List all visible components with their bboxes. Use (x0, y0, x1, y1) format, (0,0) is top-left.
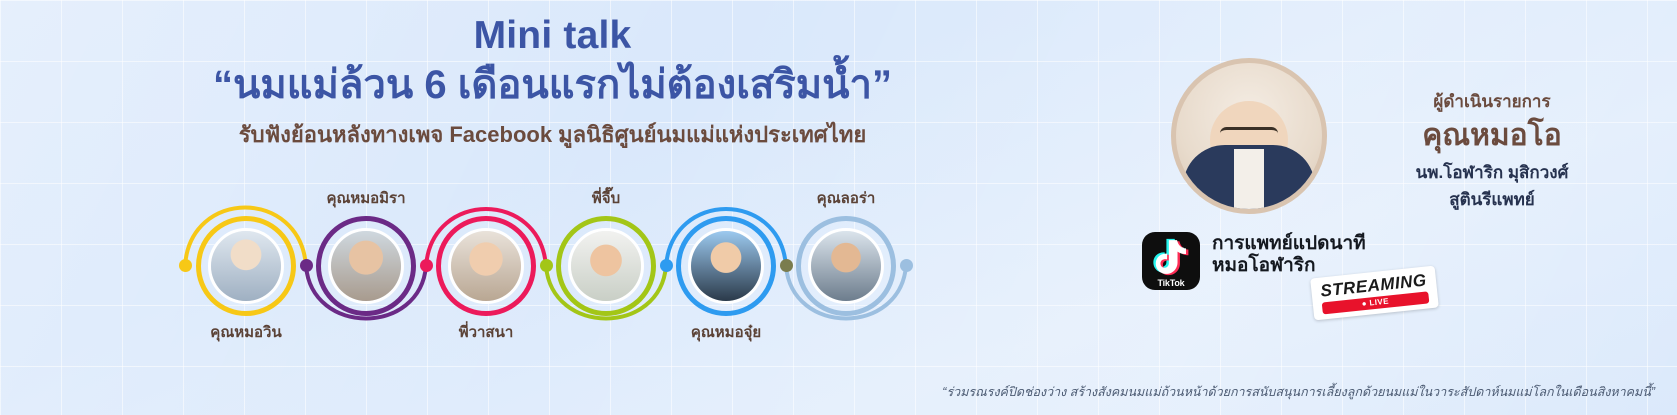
headline-quote: “นมแม่ล้วน 6 เดือนแรกไม่ต้องเสริมน้ำ” (0, 61, 1105, 110)
headline-subtitle: รับฟังย้อนหลังทางเพจ Facebook มูลนิธิศูน… (0, 122, 1105, 148)
host-fullname: นพ.โอฬาริก มุสิกวงศ์ (1342, 159, 1642, 186)
speaker-avatar (688, 228, 764, 304)
promo-banner: Mini talk “นมแม่ล้วน 6 เดือนแรกไม่ต้องเส… (0, 0, 1677, 415)
speaker-ring (556, 216, 656, 316)
speaker-ring (196, 216, 296, 316)
speaker-avatar (208, 228, 284, 304)
headline-block: Mini talk “นมแม่ล้วน 6 เดือนแรกไม่ต้องเส… (0, 14, 1105, 148)
speaker-ring (796, 216, 896, 316)
speaker-avatar (328, 228, 404, 304)
speaker-name: คุณหมอวิน (164, 320, 328, 344)
connector-dot (540, 259, 553, 272)
host-specialty: สูตินรีแพทย์ (1342, 186, 1642, 213)
host-info: ผู้ดำเนินรายการ คุณหมอโอ นพ.โอฬาริก มุสิ… (1342, 88, 1642, 213)
avatar-photo (691, 231, 761, 301)
speaker-node[interactable]: คุณลอร่า (786, 178, 906, 338)
channel-line-1: การแพทย์แปดนาที (1212, 233, 1366, 255)
avatar-photo (331, 231, 401, 301)
speaker-avatar (448, 228, 524, 304)
speaker-node[interactable]: คุณหมอมิรา (306, 178, 426, 338)
connector-dot (900, 259, 913, 272)
channel-name: การแพทย์แปดนาที หมอโอฬาริก (1212, 233, 1366, 278)
speaker-avatar (568, 228, 644, 304)
speaker-name: คุณลอร่า (764, 186, 928, 210)
speaker-name: พี่วาสนา (404, 320, 568, 344)
footer-note: “ร่วมรณรงค์ปิดช่องว่าง สร้างสังคมนมแม่ถ้… (0, 382, 1655, 402)
avatar-photo (211, 231, 281, 301)
speaker-name: พี่จี๊บ (524, 186, 688, 210)
page-title: Mini talk (0, 14, 1105, 59)
avatar-photo (451, 231, 521, 301)
connector-dot (660, 259, 673, 272)
speaker-ring (316, 216, 416, 316)
speaker-name: คุณหมอจุ๋ย (644, 320, 808, 344)
speaker-avatar (808, 228, 884, 304)
host-role: ผู้ดำเนินรายการ (1342, 88, 1642, 115)
tiktok-icon[interactable]: TikTok (1142, 232, 1200, 290)
speakers-section: วิทยากร คุณหมอวิน (0, 178, 1060, 338)
host-nickname: คุณหมอโอ (1342, 117, 1642, 155)
speaker-ring (676, 216, 776, 316)
tiktok-wordmark: TikTok (1142, 278, 1200, 288)
speaker-ring (436, 216, 536, 316)
speaker-name: คุณหมอมิรา (284, 186, 448, 210)
avatar-photo (811, 231, 881, 301)
connector-dot (300, 259, 313, 272)
host-avatar (1171, 58, 1327, 214)
connector-dot (420, 259, 433, 272)
connector-dot (179, 259, 192, 272)
connector-dot (780, 259, 793, 272)
channel-section: TikTok การแพทย์แปดนาที หมอโอฬาริก STREAM… (1127, 232, 1667, 312)
speaker-node[interactable]: พี่จี๊บ (546, 178, 666, 338)
avatar-photo (571, 231, 641, 301)
host-section: ผู้ดำเนินรายการ คุณหมอโอ นพ.โอฬาริก มุสิ… (1117, 0, 1677, 415)
